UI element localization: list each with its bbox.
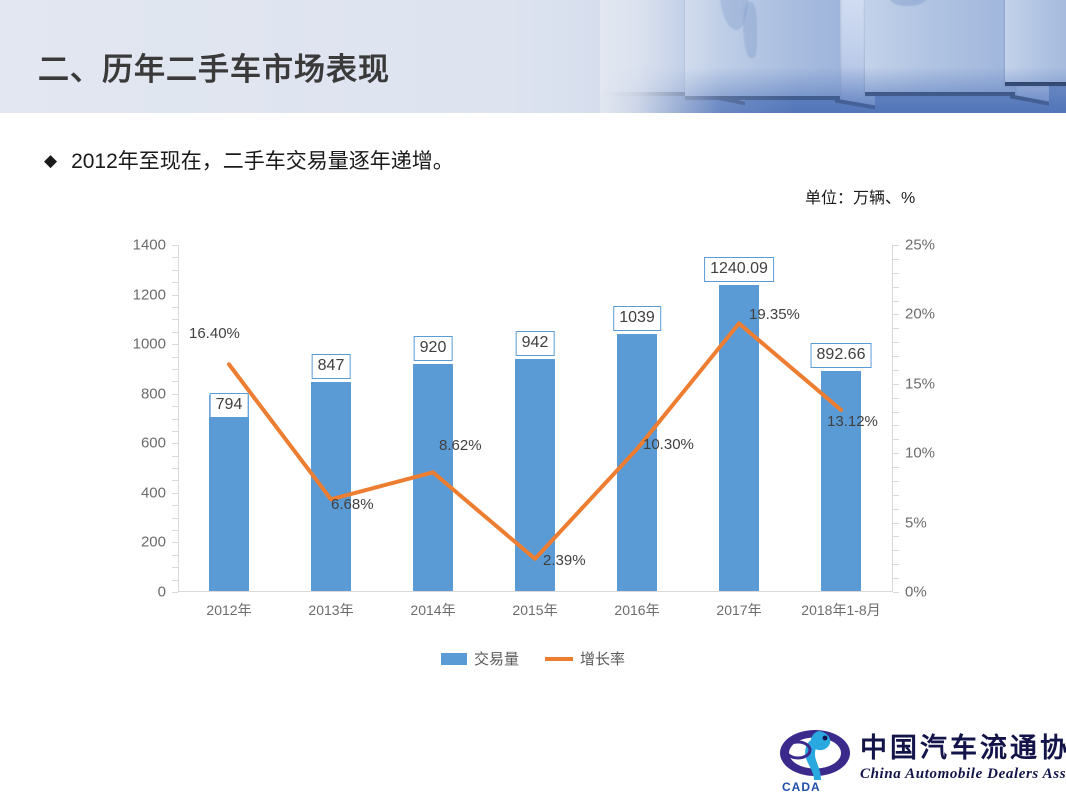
world-map-watermark [887, 0, 931, 6]
legend-line-swatch-icon [545, 657, 573, 661]
page-title: 二、历年二手车市场表现 [38, 44, 390, 89]
world-map-watermark [743, 2, 757, 58]
bar[interactable] [719, 285, 759, 592]
logo-acronym: CADA [782, 780, 821, 794]
category-label: 2013年 [308, 600, 353, 620]
decorative-cube [600, 0, 718, 92]
right-axis-tick [893, 453, 899, 454]
left-axis-tick-label: 0 [158, 584, 166, 601]
organization-logo: CADA 中国汽车流通协会 China Automobile Dealers A… [778, 722, 1066, 796]
right-axis-tick [893, 523, 899, 524]
right-axis-tick [893, 495, 899, 496]
right-axis-tick [893, 356, 899, 357]
left-axis-tick-label: 1400 [133, 237, 166, 254]
category-axis-line [178, 591, 892, 592]
bar-value-label: 920 [414, 336, 453, 361]
right-axis-tick-label: 15% [905, 375, 935, 392]
growth-rate-label: 6.68% [331, 496, 374, 513]
header-decorative-image [600, 0, 1066, 113]
world-map-watermark [719, 0, 749, 30]
growth-rate-label: 10.30% [643, 436, 694, 453]
legend-item-line[interactable]: 增长率 [545, 648, 625, 669]
decorative-cube [685, 0, 840, 96]
growth-rate-label: 19.35% [749, 306, 800, 323]
right-axis-tick [893, 245, 899, 246]
plot-area [178, 245, 892, 592]
left-axis-tick-label: 800 [141, 385, 166, 402]
chart-container: 0200400600800100012001400 0%5%10%15%20%2… [120, 235, 960, 635]
bar-value-label: 942 [516, 331, 555, 356]
right-axis-tick [893, 384, 899, 385]
right-axis-tick-label: 20% [905, 306, 935, 323]
right-axis-tick [893, 536, 899, 537]
cube-front-face [685, 0, 840, 100]
right-axis-tick [893, 301, 899, 302]
cube-front-face [600, 0, 718, 96]
right-axis-tick [893, 259, 899, 260]
legend-label: 交易量 [474, 648, 519, 669]
chart-legend: 交易量 增长率 [0, 648, 1066, 669]
right-axis-tick [893, 425, 899, 426]
right-axis-tick [893, 328, 899, 329]
right-axis-tick [893, 509, 899, 510]
legend-label: 增长率 [580, 648, 625, 669]
cube-front-face [1005, 0, 1066, 86]
cube-front-face [865, 0, 1015, 96]
cube-side-face [1010, 0, 1049, 106]
growth-rate-label: 2.39% [543, 552, 586, 569]
chart-unit-note: 单位：万辆、% [805, 184, 915, 208]
right-axis-tick [893, 481, 899, 482]
right-axis-tick [893, 592, 899, 593]
bar-value-label: 794 [210, 393, 249, 418]
bar-value-label: 847 [312, 354, 351, 379]
right-axis-tick [893, 467, 899, 468]
cube-side-face [712, 0, 745, 106]
right-axis-tick [893, 564, 899, 565]
bar[interactable] [821, 371, 861, 592]
left-axis-tick-label: 400 [141, 484, 166, 501]
right-axis-tick [893, 287, 899, 288]
left-axis-tick-label: 1000 [133, 336, 166, 353]
bar[interactable] [413, 364, 453, 592]
category-label: 2015年 [512, 600, 557, 620]
right-axis-line [892, 245, 893, 592]
decorative-cube [1005, 0, 1066, 82]
left-axis-tick [172, 592, 178, 593]
right-axis-tick [893, 578, 899, 579]
right-axis-tick [893, 439, 899, 440]
bar[interactable] [209, 395, 249, 592]
bar[interactable] [311, 382, 351, 592]
right-axis-tick [893, 412, 899, 413]
cube-side-face [835, 0, 875, 110]
growth-rate-label: 16.40% [189, 325, 240, 342]
bar-value-label: 1039 [613, 306, 661, 331]
right-axis-tick [893, 273, 899, 274]
left-axis-tick-label: 1200 [133, 286, 166, 303]
right-axis-tick-label: 25% [905, 237, 935, 254]
bullet-text: 2012年至现在，二手车交易量逐年递增。 [71, 145, 454, 175]
bullet-row: ◆ 2012年至现在，二手车交易量逐年递增。 [44, 145, 454, 175]
category-label: 2018年1-8月 [801, 600, 880, 620]
right-axis-tick-label: 5% [905, 514, 927, 531]
category-label: 2012年 [206, 600, 251, 620]
right-axis-tick-label: 0% [905, 584, 927, 601]
bar-value-label: 892.66 [811, 343, 872, 368]
right-axis-tick [893, 370, 899, 371]
bar-value-label: 1240.09 [704, 257, 774, 282]
bar[interactable] [617, 334, 657, 592]
category-label: 2017年 [716, 600, 761, 620]
slide-header-banner: 二、历年二手车市场表现 [0, 0, 1066, 113]
growth-rate-label: 13.12% [827, 413, 878, 430]
right-axis-tick-label: 10% [905, 445, 935, 462]
legend-item-bar[interactable]: 交易量 [441, 648, 519, 669]
legend-bar-swatch-icon [441, 653, 467, 665]
category-label: 2016年 [614, 600, 659, 620]
cube-floor-shadow [600, 67, 1066, 113]
left-axis-tick-label: 600 [141, 435, 166, 452]
logo-english-name: China Automobile Dealers Association [860, 766, 1066, 783]
growth-rate-label: 8.62% [439, 437, 482, 454]
diamond-bullet-icon: ◆ [44, 152, 57, 169]
left-axis-tick-label: 200 [141, 534, 166, 551]
right-axis-tick [893, 550, 899, 551]
right-axis-tick [893, 314, 899, 315]
right-axis-tick [893, 342, 899, 343]
logo-chinese-name: 中国汽车流通协会 [860, 726, 1066, 765]
category-label: 2014年 [410, 600, 455, 620]
right-axis-tick [893, 398, 899, 399]
decorative-cube [865, 0, 1015, 92]
